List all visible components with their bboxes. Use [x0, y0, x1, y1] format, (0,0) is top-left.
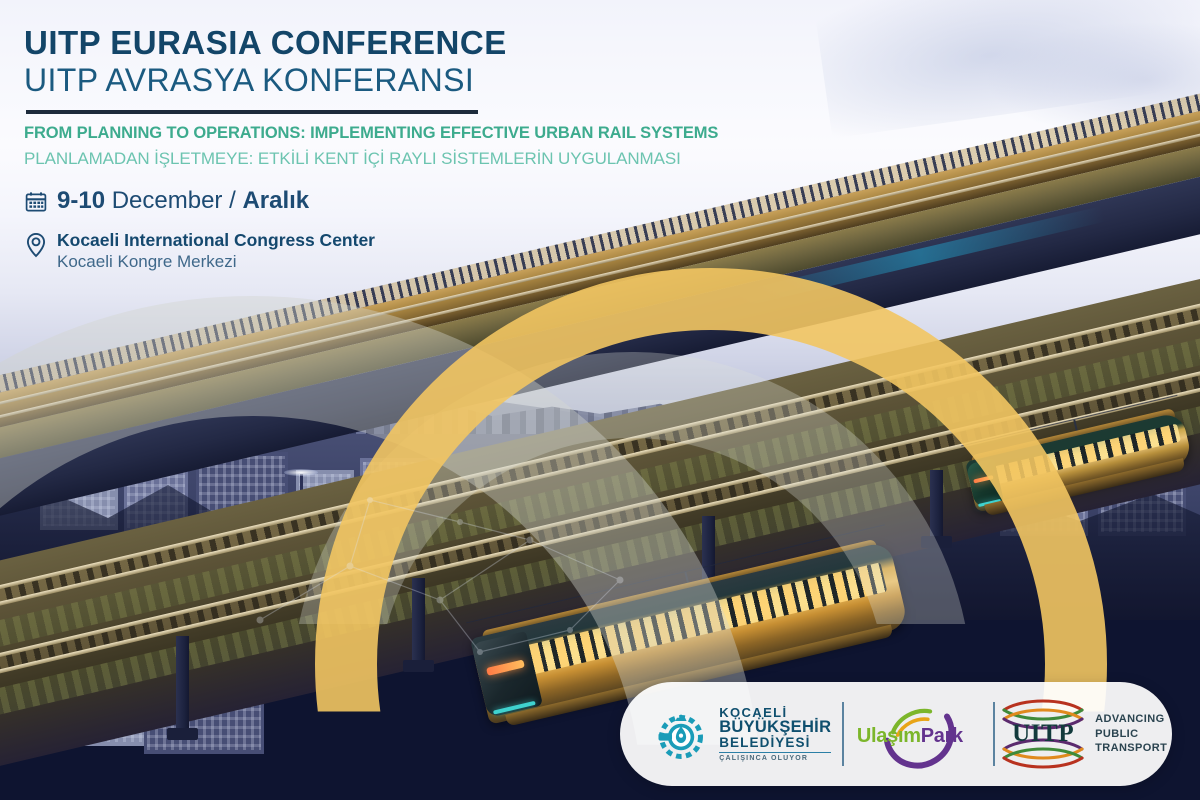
- ulasimpark-word-2: Park: [921, 725, 963, 747]
- ulasimpark-swoosh-icon: UlaşımPark: [851, 695, 987, 773]
- ulasimpark-word-1: Ulaşım: [857, 725, 921, 747]
- location-pin-icon: [24, 232, 48, 263]
- logo-divider-2: [993, 702, 995, 766]
- ulasimpark-wordmark: UlaşımPark: [857, 725, 963, 748]
- banner-stage: UITP EURASIA CONFERENCE UITP AVRASYA KON…: [0, 0, 1200, 800]
- venue-name-tr: Kocaeli Kongre Merkezi: [57, 251, 375, 272]
- title-divider: [26, 110, 478, 114]
- venue-name-en: Kocaeli International Congress Center: [57, 230, 375, 251]
- logo-kocaeli-buyuksehir-belediyesi[interactable]: KOCAELİ BÜYÜKŞEHİR BELEDİYESİ ÇALIŞINCA …: [620, 706, 842, 762]
- kocaeli-line-2: BÜYÜKŞEHİR: [719, 719, 831, 736]
- uitp-tagline-line-1: ADVANCING: [1095, 712, 1167, 727]
- event-date-month-tr: Aralık: [242, 187, 309, 214]
- event-date-days: 9-10: [57, 187, 105, 214]
- uitp-tagline: ADVANCING PUBLIC TRANSPORT: [1095, 712, 1167, 756]
- conference-subtitle-tr: PLANLAMADAN İŞLETMEYE: ETKİLİ KENT İÇİ R…: [24, 148, 924, 171]
- kocaeli-wordmark: KOCAELİ BÜYÜKŞEHİR BELEDİYESİ ÇALIŞINCA …: [719, 706, 831, 762]
- uitp-tagline-line-3: TRANSPORT: [1095, 741, 1167, 756]
- kocaeli-gear-emblem-icon: [653, 706, 709, 762]
- kocaeli-line-3: BELEDİYESİ: [719, 736, 831, 750]
- event-date-month-en: December: [112, 187, 223, 214]
- venue-names: Kocaeli International Congress Center Ko…: [57, 230, 375, 272]
- date-row: 9-10 December / Aralık: [24, 188, 924, 219]
- header-text-block: UITP EURASIA CONFERENCE UITP AVRASYA KON…: [24, 24, 924, 272]
- logo-divider-1: [842, 702, 844, 766]
- conference-title-en: UITP EURASIA CONFERENCE: [24, 24, 924, 63]
- logo-ulasimpark[interactable]: UlaşımPark: [844, 695, 993, 773]
- event-meta: 9-10 December / Aralık Kocaeli Internati…: [24, 188, 924, 272]
- kocaeli-tagline: ÇALIŞINCA OLUYOR: [719, 752, 831, 762]
- event-date: 9-10 December / Aralık: [57, 188, 309, 215]
- uitp-tagline-line-2: PUBLIC: [1095, 727, 1167, 742]
- sponsor-logo-card: KOCAELİ BÜYÜKŞEHİR BELEDİYESİ ÇALIŞINCA …: [620, 682, 1172, 786]
- conference-title-tr: UITP AVRASYA KONFERANSI: [24, 61, 924, 99]
- network-overlay-graphic: [230, 470, 650, 670]
- logo-uitp[interactable]: UITP ADVANCING PUBLIC TRANSPORT: [995, 698, 1172, 770]
- conference-subtitle-en: FROM PLANNING TO OPERATIONS: IMPLEMENTIN…: [24, 123, 924, 144]
- venue-row: Kocaeli International Congress Center Ko…: [24, 230, 924, 272]
- event-date-separator: /: [229, 187, 236, 214]
- uitp-waves-icon: UITP: [1000, 698, 1086, 770]
- calendar-icon: [24, 190, 48, 219]
- uitp-wordmark: UITP: [1000, 720, 1086, 748]
